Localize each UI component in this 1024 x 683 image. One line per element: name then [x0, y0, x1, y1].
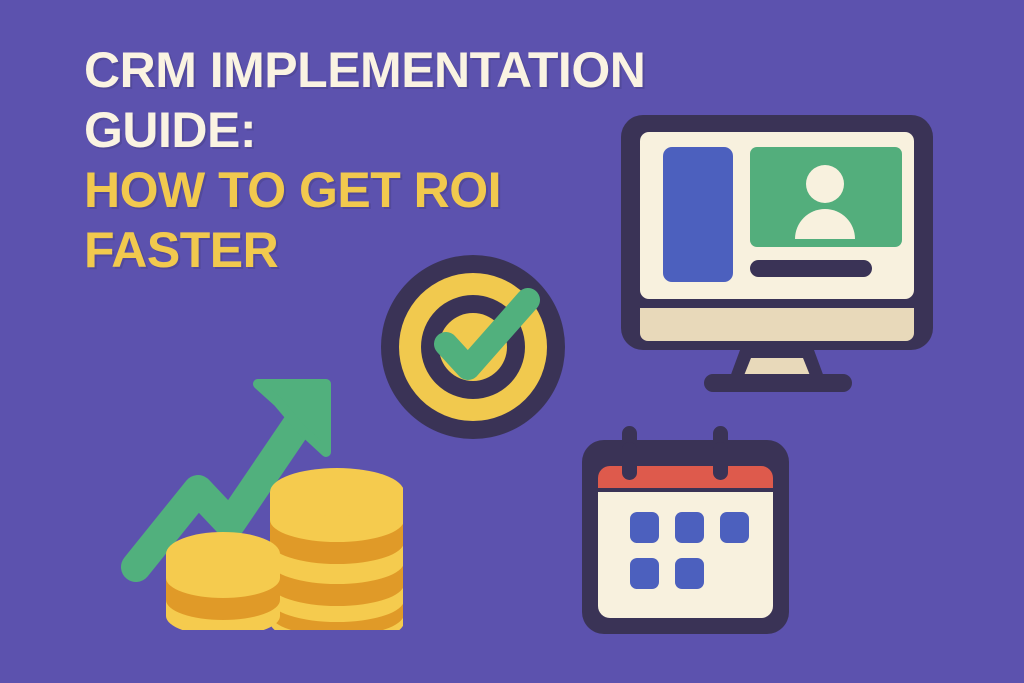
headline-line-2: GUIDE: — [84, 100, 704, 160]
page-title: CRM IMPLEMENTATION GUIDE: HOW TO GET ROI… — [84, 40, 704, 280]
coin-stack-short-top — [166, 532, 280, 576]
contact-avatar-head — [806, 165, 844, 203]
headline-line-1: CRM IMPLEMENTATION — [84, 40, 704, 100]
contact-name-bar — [750, 260, 872, 277]
target-checkmark-icon — [378, 252, 568, 442]
calendar-date-square — [720, 512, 749, 543]
calendar-date-square — [630, 512, 659, 543]
headline-line-3: HOW TO GET ROI — [84, 160, 704, 220]
target-svg — [378, 252, 568, 442]
monitor-base-strip — [640, 308, 914, 341]
growth-svg — [118, 372, 403, 630]
monitor-svg — [618, 112, 948, 392]
calendar-icon — [578, 426, 793, 638]
coin-stack-short — [166, 532, 280, 630]
calendar-svg — [578, 426, 793, 638]
calendar-ring-right-front — [713, 442, 728, 480]
coin-stack-tall — [270, 468, 403, 630]
monitor-crm-dashboard-icon — [618, 112, 948, 392]
hero-graphic-canvas: CRM IMPLEMENTATION GUIDE: HOW TO GET ROI… — [0, 0, 1024, 683]
coin-stack-tall-top — [270, 468, 403, 516]
calendar-body — [598, 492, 773, 618]
calendar-ring-left-front — [622, 442, 637, 480]
calendar-date-square — [675, 512, 704, 543]
calendar-date-square — [630, 558, 659, 589]
sidebar-panel — [663, 147, 733, 282]
monitor-foot — [704, 374, 852, 392]
growth-arrow-coins-icon — [118, 372, 403, 630]
calendar-date-square — [675, 558, 704, 589]
